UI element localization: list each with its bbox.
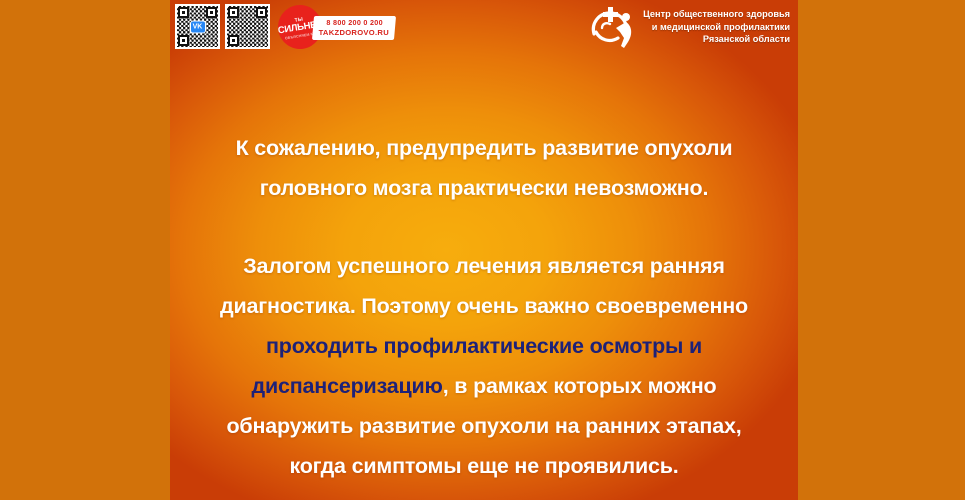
poster-root: VK Ты сильнее Объясняем как 8 800 200 0 …	[0, 0, 965, 500]
paragraph-1-line-2: головного мозга практически невозможно.	[170, 168, 798, 208]
highlight-screening: диспансеризацию	[252, 374, 443, 398]
hotline-website: TAKZDOROVO.RU	[318, 28, 388, 38]
poster-header: VK Ты сильнее Объясняем как 8 800 200 0 …	[170, 0, 798, 58]
qr-pattern	[227, 6, 268, 47]
hotline-banner: 8 800 200 0 200 TAKZDOROVO.RU	[312, 16, 396, 40]
right-background-rail	[798, 0, 965, 500]
paragraph-2-line-2: диагностика. Поэтому очень важно своевре…	[170, 286, 798, 326]
organization-line-2: и медицинской профилактики	[643, 21, 790, 34]
qr-finder-icon	[178, 7, 189, 18]
qr-pattern: VK	[177, 6, 218, 47]
organization-logo: Центр общественного здоровья и медицинск…	[588, 4, 790, 50]
qr-finder-icon	[228, 35, 239, 46]
paragraph-2: Залогом успешного лечения является рання…	[170, 246, 798, 486]
organization-line-1: Центр общественного здоровья	[643, 8, 790, 21]
paragraph-2-line-6: когда симптомы еще не проявились.	[170, 446, 798, 486]
qr-finder-icon	[256, 7, 267, 18]
qr-code-site[interactable]	[225, 4, 270, 49]
paragraph-2-line-4: диспансеризацию, в рамках которых можно	[170, 366, 798, 406]
left-background-rail	[0, 0, 170, 500]
paragraph-1: К сожалению, предупредить развитие опухо…	[170, 128, 798, 208]
poster-body-copy: К сожалению, предупредить развитие опухо…	[170, 128, 798, 486]
qr-finder-icon	[178, 35, 189, 46]
organization-line-3: Рязанской области	[643, 33, 790, 46]
hotline-phone-number: 8 800 200 0 200	[326, 18, 382, 28]
qr-code-vk[interactable]: VK	[175, 4, 220, 49]
paragraph-spacer	[170, 208, 798, 246]
paragraph-1-line-1: К сожалению, предупредить развитие опухо…	[170, 128, 798, 168]
qr-finder-icon	[228, 7, 239, 18]
paragraph-2-line-1: Залогом успешного лечения является рання…	[170, 246, 798, 286]
medical-cross-person-emblem	[588, 4, 636, 50]
paragraph-2-line-5: обнаружить развитие опухоли на ранних эт…	[170, 406, 798, 446]
qr-finder-icon	[206, 7, 217, 18]
vk-logo-icon: VK	[190, 20, 206, 33]
organization-name: Центр общественного здоровья и медицинск…	[643, 8, 790, 46]
paragraph-2-line-3: проходить профилактические осмотры и	[170, 326, 798, 366]
paragraph-2-line-4-rest: , в рамках которых можно	[443, 374, 717, 398]
highlight-checkups: проходить профилактические осмотры и	[266, 334, 702, 358]
gradient-panel: VK Ты сильнее Объясняем как 8 800 200 0 …	[170, 0, 798, 500]
